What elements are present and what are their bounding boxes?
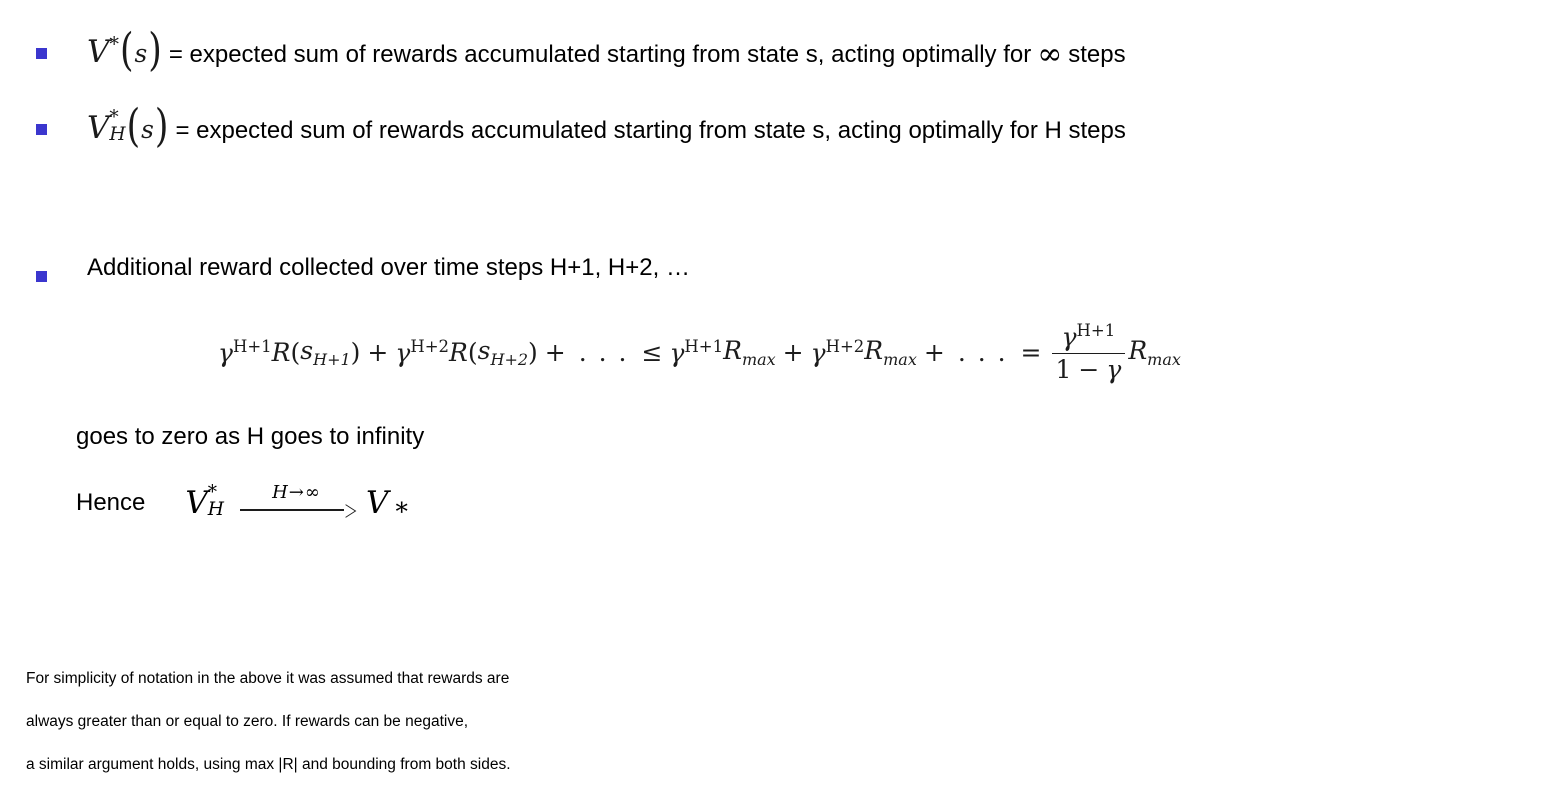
v-argument: s xyxy=(135,39,148,68)
fraction-denominator: 1−γ xyxy=(1052,353,1126,383)
v-superscript: * xyxy=(109,33,119,56)
limit-arrow-label: H→∞ xyxy=(272,484,320,502)
minus-operator: − xyxy=(1071,355,1106,384)
eq-ellipsis-1: . . . xyxy=(573,338,635,367)
state-symbol: s xyxy=(478,336,491,365)
bullet-1-content: V*(s) = expected sum of rewards accumula… xyxy=(87,30,1126,73)
eq-plus-3: + xyxy=(776,338,811,367)
footnote-line-1: For simplicity of notation in the above … xyxy=(26,668,511,689)
bullet-marker-icon xyxy=(36,124,47,135)
symbol-v-star-h-limit: V*H xyxy=(185,485,224,522)
left-paren: ( xyxy=(127,100,141,156)
bullet-item-additional-reward: Additional reward collected over time st… xyxy=(36,253,690,283)
eq-ellipsis-2: . . . xyxy=(952,338,1014,367)
long-right-arrow-icon xyxy=(240,504,352,517)
left-paren: ( xyxy=(120,24,134,80)
goes-to-zero-text: goes to zero as H goes to infinity xyxy=(76,423,424,451)
bullet-1-text-before: = expected sum of rewards accumulated st… xyxy=(169,40,1031,70)
eq-plus-1: + xyxy=(360,338,395,367)
reward-R: R xyxy=(723,336,742,365)
footnote-block: For simplicity of notation in the above … xyxy=(26,647,511,797)
eq-reward-R: R xyxy=(272,338,291,367)
gamma-symbol: γ xyxy=(218,339,233,368)
v-base-letter: V xyxy=(366,485,388,521)
eq-plus-2: + xyxy=(538,338,573,367)
gamma-exponent: H+1 xyxy=(233,337,272,356)
state-symbol: s xyxy=(300,336,313,365)
eq-term-gamma-h2: γH+2 xyxy=(395,337,449,367)
v-base-letter: V xyxy=(87,110,109,146)
bullet-3-text: Additional reward collected over time st… xyxy=(87,253,690,283)
one-literal: 1 xyxy=(1056,355,1072,384)
bullet-marker-icon xyxy=(36,48,47,59)
eq-term-gamma-h2-b: γH+2 xyxy=(811,337,865,367)
display-equation: γH+1 R ( sH+1 ) + γH+2 R ( sH+2 ) + . . … xyxy=(218,322,1181,383)
gamma-symbol: γ xyxy=(811,339,826,368)
v-asterisk: ∗ xyxy=(388,492,410,521)
bullet-1-text-after: steps xyxy=(1068,40,1125,70)
gamma-symbol: γ xyxy=(1062,322,1077,351)
reward-R: R xyxy=(1128,336,1147,365)
eq-rmax-1: Rmax xyxy=(723,336,776,369)
footnote-line-2: always greater than or equal to zero. If… xyxy=(26,711,511,732)
symbol-v-star: V*(s) xyxy=(87,30,163,73)
rmax-subscript: max xyxy=(1147,350,1181,369)
eq-state-s-h1: sH+1 xyxy=(300,336,350,369)
eq-rmax-3: Rmax xyxy=(1128,336,1181,369)
gamma-symbol: γ xyxy=(669,339,684,368)
bullet-2-content: V*H(s) = expected sum of rewards accumul… xyxy=(87,106,1126,149)
arrow-glyph-icon: → xyxy=(288,482,305,503)
v-argument: s xyxy=(141,115,154,144)
v-subscript: H xyxy=(109,126,125,143)
infinity-icon: ∞ xyxy=(1031,40,1068,70)
eq-leq: ≤ xyxy=(634,338,669,367)
eq-state-s-h2: sH+2 xyxy=(478,336,528,369)
right-paren: ) xyxy=(148,24,162,80)
bullet-3-content: Additional reward collected over time st… xyxy=(87,253,690,283)
eq-rmax-2: Rmax xyxy=(864,336,917,369)
limit-arrow: H→∞ xyxy=(240,484,352,517)
v-sup-sub-stack: *H xyxy=(208,484,224,518)
bullet-2-text: = expected sum of rewards accumulated st… xyxy=(175,116,1125,146)
slide-canvas: V*(s) = expected sum of rewards accumula… xyxy=(0,0,1566,755)
eq-plus-4: + xyxy=(917,338,952,367)
reward-R: R xyxy=(864,336,883,365)
rmax-subscript: max xyxy=(883,350,917,369)
eq-term-gamma-h1: γH+1 xyxy=(218,337,272,367)
eq-reward-R: R xyxy=(449,338,468,367)
infinity-icon: ∞ xyxy=(305,482,320,503)
eq-rparen: ) xyxy=(351,338,361,367)
right-paren: ) xyxy=(155,100,169,156)
v-subscript: H xyxy=(208,501,224,518)
eq-term-gamma-h1-b: γH+1 xyxy=(669,337,723,367)
gamma-exponent: H+2 xyxy=(410,337,449,356)
bullet-item-v-star-infinite: V*(s) = expected sum of rewards accumula… xyxy=(36,30,1126,73)
v-sup-sub-stack: *H xyxy=(109,109,125,143)
footnote-line-3: a similar argument holds, using max |R| … xyxy=(26,754,511,775)
eq-lparen: ( xyxy=(468,338,478,367)
gamma-exponent: H+1 xyxy=(1077,321,1116,340)
limit-variable: H xyxy=(272,482,288,503)
bullet-item-v-star-horizon-h: V*H(s) = expected sum of rewards accumul… xyxy=(36,106,1126,149)
state-subscript: H+1 xyxy=(313,350,351,369)
v-base-letter: V xyxy=(87,34,109,70)
bullet-marker-icon xyxy=(36,271,47,282)
hence-label: Hence xyxy=(76,489,145,517)
hence-statement: Hence V*H H→∞ V∗ xyxy=(76,484,410,521)
state-subscript: H+2 xyxy=(490,350,528,369)
eq-equals: = xyxy=(1014,338,1049,367)
gamma-exponent: H+2 xyxy=(826,337,865,356)
eq-lparen: ( xyxy=(291,338,301,367)
gamma-symbol: γ xyxy=(395,339,410,368)
eq-fraction: γH+1 1−γ xyxy=(1052,322,1126,383)
v-base-letter: V xyxy=(185,485,207,521)
fraction-numerator: γH+1 xyxy=(1058,322,1120,353)
eq-rparen: ) xyxy=(528,338,538,367)
symbol-v-star-h: V*H(s) xyxy=(87,106,169,149)
rmax-subscript: max xyxy=(742,350,776,369)
gamma-symbol: γ xyxy=(1106,355,1121,384)
symbol-v-star-limit: V∗ xyxy=(366,485,410,521)
gamma-exponent: H+1 xyxy=(684,337,723,356)
